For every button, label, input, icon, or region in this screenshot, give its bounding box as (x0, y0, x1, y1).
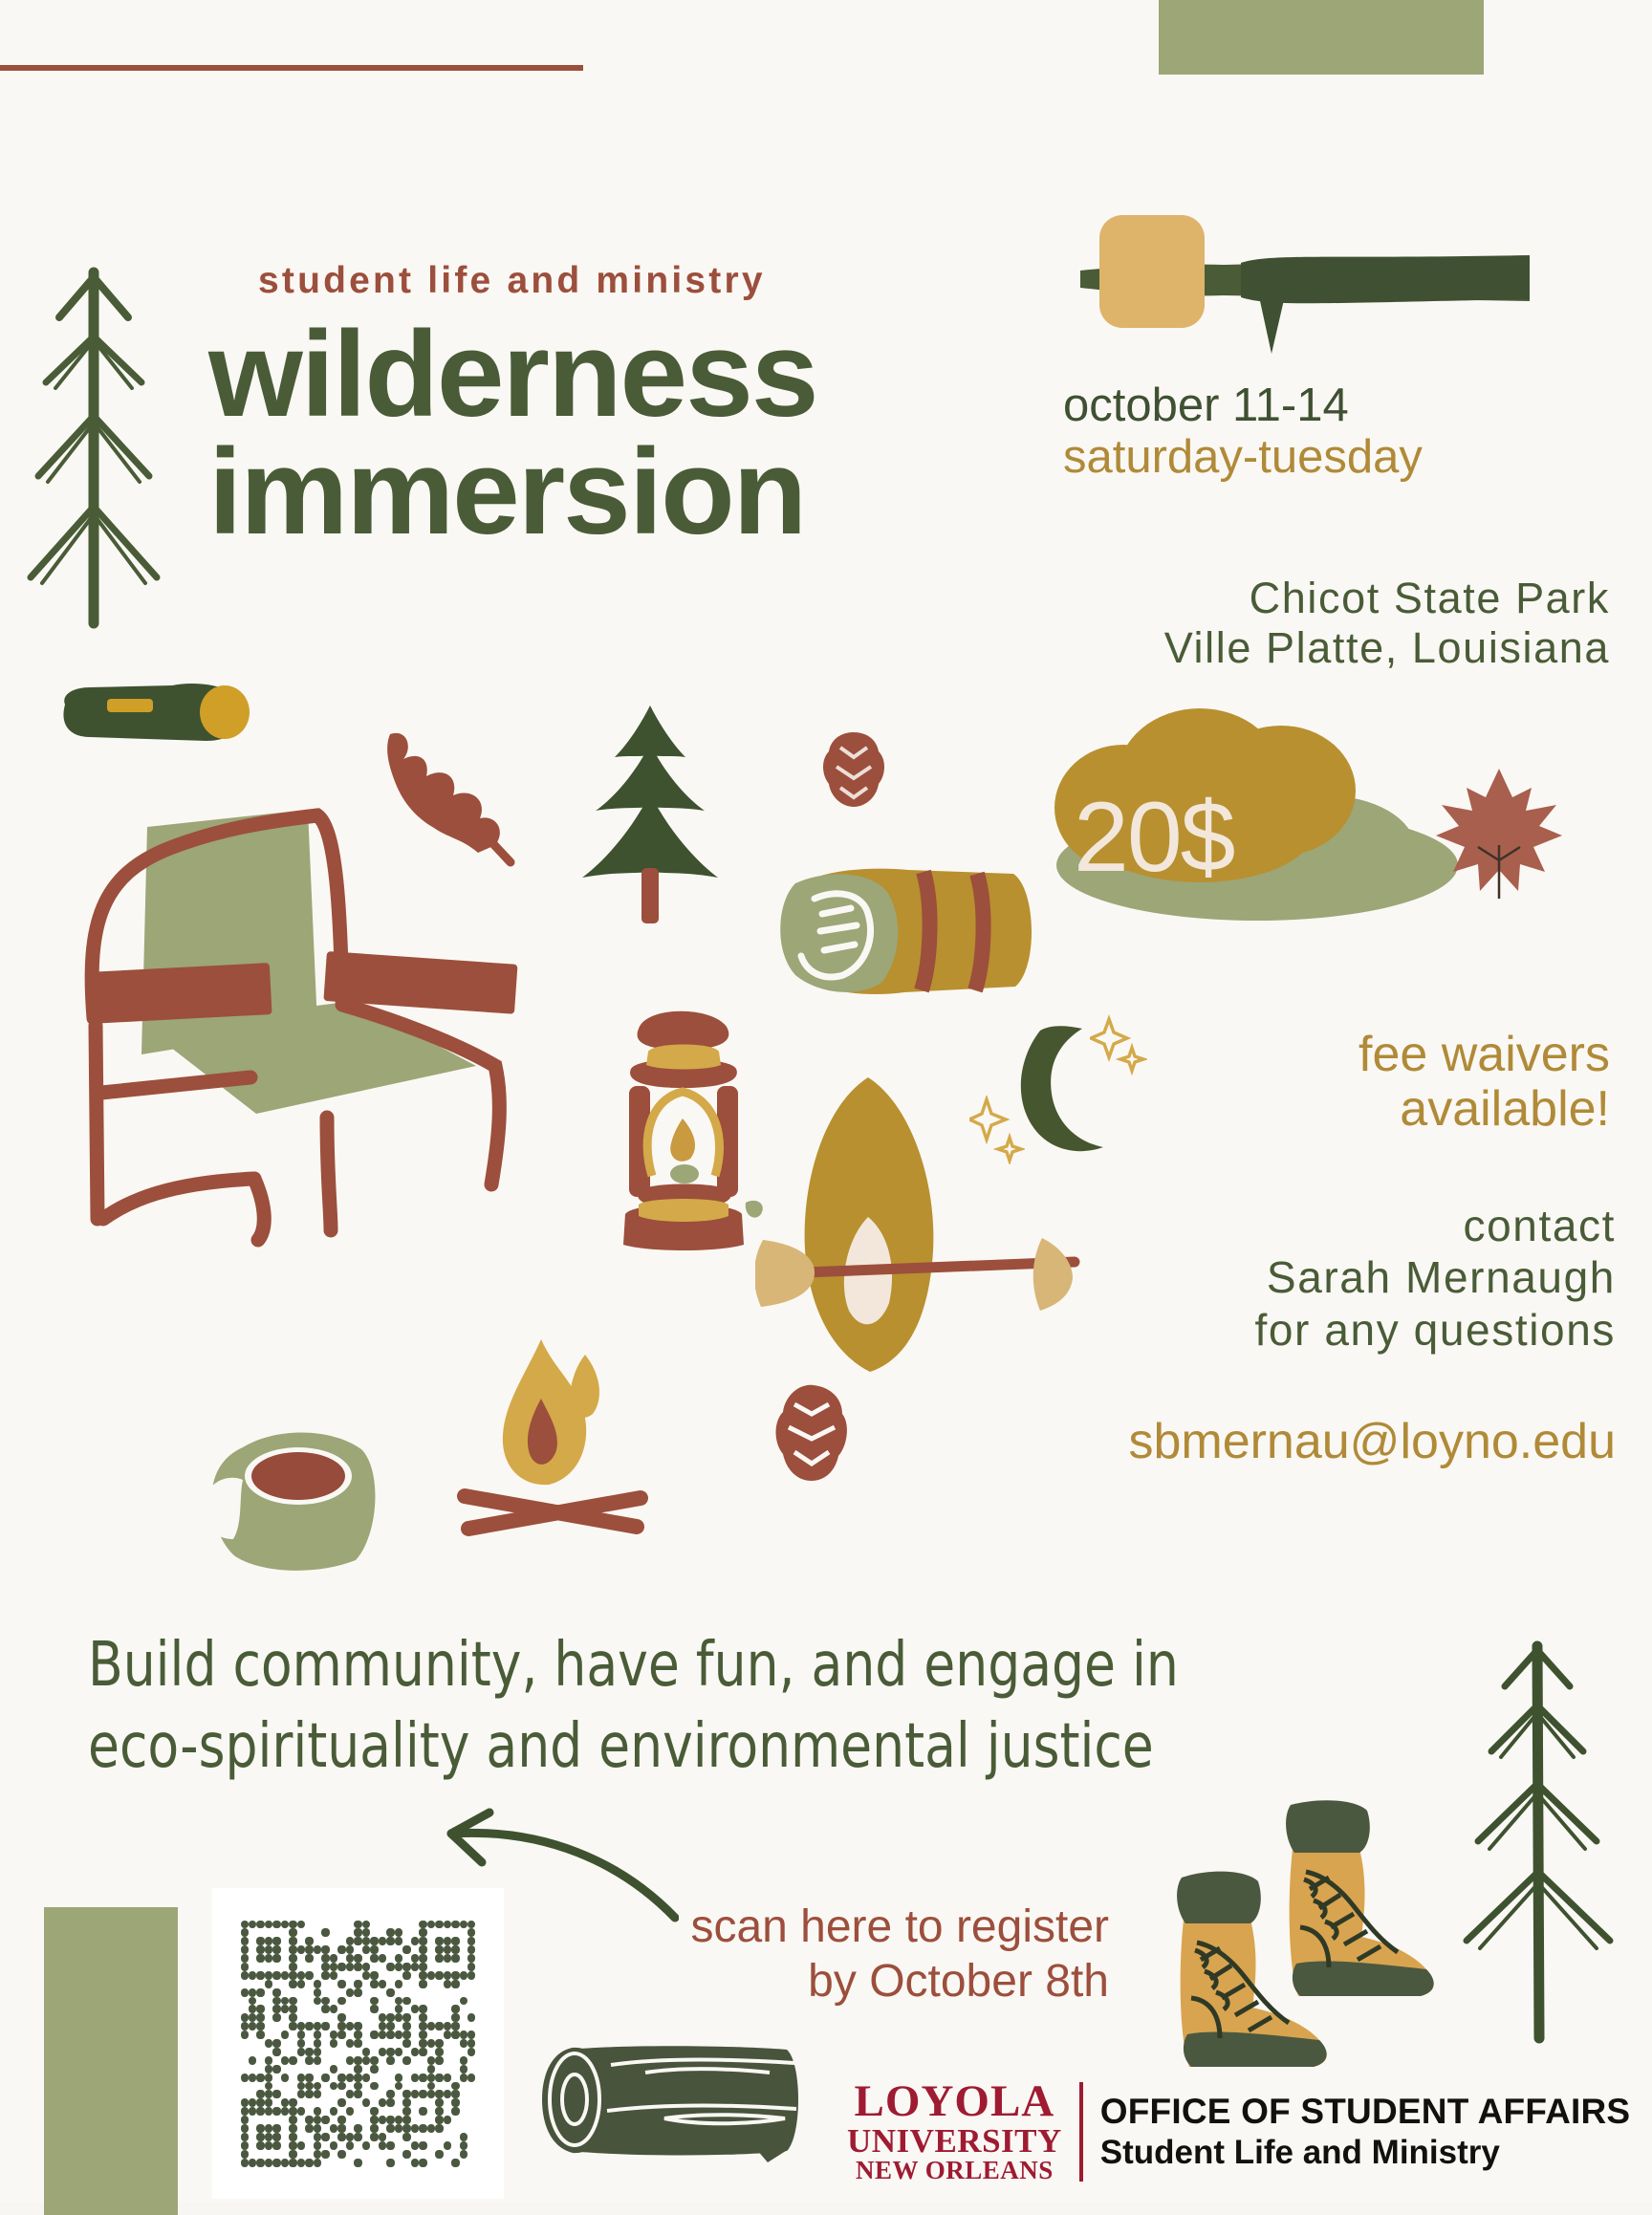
page-title: wilderness immersion (208, 315, 816, 551)
pinecone-small-icon (770, 1381, 856, 1487)
loyola-line1: LOYOLA (847, 2079, 1062, 2124)
top-right-color-block (1159, 0, 1484, 75)
marshmallow-stick-icon (1080, 196, 1530, 363)
price-label: 20$ (1074, 781, 1234, 895)
pine-tree-sketch-icon (17, 249, 170, 631)
bottom-left-color-block (44, 1907, 178, 2215)
hiking-boots-icon (1138, 1797, 1520, 2084)
qr-code[interactable] (212, 1888, 504, 2199)
coffee-mug-icon (174, 1417, 413, 1579)
contact-info: contact Sarah Mernaugh for any questions (956, 1200, 1616, 1356)
office-line1: OFFICE OF STUDENT AFFAIRS (1100, 2090, 1631, 2133)
office-wordmark: OFFICE OF STUDENT AFFAIRS Student Life a… (1100, 2090, 1631, 2174)
tagline-text: Build community, have fun, and engage in… (88, 1625, 1368, 1788)
campfire-icon (449, 1334, 698, 1544)
loyola-line3: NEW ORLEANS (847, 2158, 1062, 2183)
loyola-wordmark: LOYOLA UNIVERSITY NEW ORLEANS (847, 2079, 1062, 2183)
loyola-logo: LOYOLA UNIVERSITY NEW ORLEANS OFFICE OF … (847, 2079, 1630, 2183)
flashlight-icon (57, 674, 263, 750)
camp-chair-icon (67, 798, 545, 1248)
fee-waiver-note: fee waivers available! (994, 1028, 1610, 1137)
lantern-icon (593, 994, 774, 1252)
kicker-text: student life and ministry (258, 260, 766, 302)
maple-leaf-icon (1432, 765, 1566, 908)
event-location: Chicot State Park Ville Platte, Louisian… (1071, 574, 1610, 673)
day-range: saturday-tuesday (1063, 432, 1423, 484)
pinecone-icon (817, 728, 892, 813)
top-rule (0, 65, 583, 71)
event-dates: october 11-14 saturday-tuesday (1063, 380, 1423, 484)
log-icon (531, 2044, 808, 2163)
contact-email[interactable]: sbmernau@loyno.edu (918, 1413, 1616, 1470)
loyola-line2: UNIVERSITY (847, 2124, 1062, 2158)
office-line2: Student Life and Ministry (1100, 2133, 1631, 2174)
qr-code-modules (241, 1921, 476, 2167)
sleeping-bag-roll-icon (736, 860, 1042, 1004)
scan-instruction: scan here to register by October 8th (497, 1900, 1109, 2009)
pine-tree-icon (569, 698, 731, 927)
logo-divider (1079, 2082, 1083, 2182)
date-range: october 11-14 (1063, 380, 1349, 431)
